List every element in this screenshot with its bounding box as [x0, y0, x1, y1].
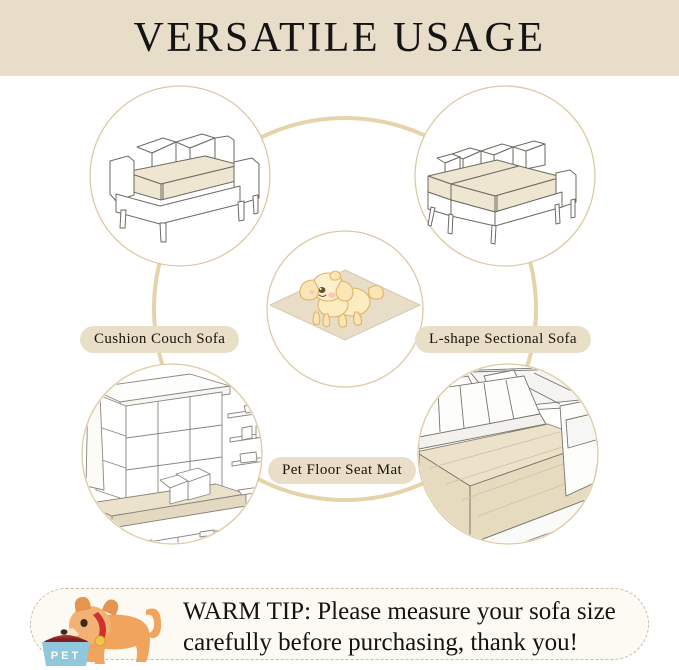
- warm-tip-text: WARM TIP: Please measure your sofa size …: [183, 596, 653, 658]
- label-cushion-couch-sofa[interactable]: Cushion Couch Sofa: [80, 326, 239, 353]
- usage-diagram: Cushion Couch Sofa L-shape Sectional Sof…: [0, 76, 679, 576]
- shiba-dog-with-bowl-icon: PET: [42, 592, 182, 670]
- page-title: VERSATILE USAGE: [134, 17, 546, 59]
- label-l-shape-sectional-sofa[interactable]: L-shape Sectional Sofa: [415, 326, 591, 353]
- bowl-label: PET: [51, 650, 81, 662]
- page-header: VERSATILE USAGE: [0, 0, 679, 76]
- warm-tip-line-1: WARM TIP: Please measure your sofa size: [183, 596, 653, 627]
- warm-tip-line-2: carefully before purchasing, thank you!: [183, 627, 653, 658]
- label-pet-floor-seat-mat[interactable]: Pet Floor Seat Mat: [268, 457, 416, 484]
